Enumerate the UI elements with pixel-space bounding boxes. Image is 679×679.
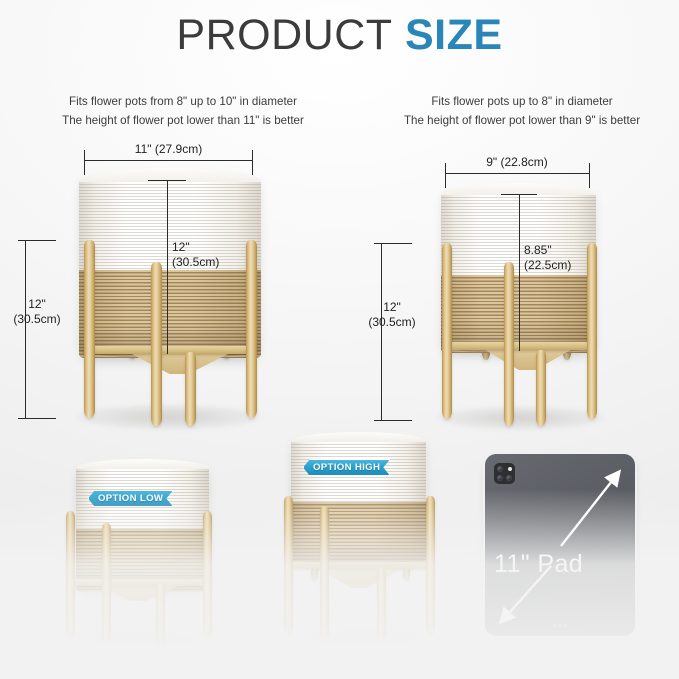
stand-leg-mid-left bbox=[320, 506, 329, 640]
product-size-infographic: PRODUCT SIZE Fits flower pots from 8" up… bbox=[0, 0, 679, 679]
stand-leg-mid-left bbox=[102, 523, 111, 643]
option-high-shadow bbox=[293, 628, 438, 648]
small-planter-shadow bbox=[435, 406, 607, 430]
stand-height-tick-bottom bbox=[18, 418, 56, 419]
stand-height-dimension-line bbox=[381, 243, 382, 421]
stand-leg-mid-right bbox=[185, 352, 196, 426]
small-stand-height-label: 12" (30.5cm) bbox=[354, 300, 430, 330]
option-high-planter: OPTION HIGH bbox=[275, 428, 465, 668]
large-planter-shadow bbox=[74, 404, 264, 430]
stand-crossbar bbox=[92, 346, 250, 354]
basket-bottom-shading bbox=[291, 540, 426, 564]
diagonal-arrow-icon bbox=[485, 454, 635, 636]
large-basket-height-cm: (30.5cm) bbox=[172, 255, 268, 270]
stand-leg-mid-right bbox=[156, 583, 165, 645]
small-diameter-label: 9" (22.8cm) bbox=[437, 155, 597, 170]
basket-height-dimension-line bbox=[167, 180, 168, 354]
stand-leg-mid-left bbox=[504, 262, 514, 426]
small-basket-height-label: 8.85" (22.5cm) bbox=[524, 243, 624, 273]
stand-leg-front-left bbox=[66, 511, 75, 637]
stand-height-tick-top bbox=[18, 240, 56, 241]
large-stand-height-cm: (30.5cm) bbox=[0, 312, 74, 327]
option-low-shadow bbox=[73, 630, 218, 650]
tablet-diagonal-label: 11" Pad bbox=[494, 550, 583, 579]
stand-diagonal-brace bbox=[317, 568, 403, 588]
stand-leg-mid-left bbox=[151, 262, 162, 426]
small-basket-height-cm: (22.5cm) bbox=[524, 258, 624, 273]
option-low-basket bbox=[76, 459, 209, 592]
stand-leg-mid-right bbox=[377, 568, 386, 640]
small-basket-height-inches: 8.85" bbox=[524, 243, 624, 258]
stand-leg-mid-right bbox=[536, 350, 546, 426]
large-stand-height-label: 12" (30.5cm) bbox=[0, 297, 74, 327]
stand-crossbar bbox=[67, 579, 213, 586]
basket-height-dimension-line bbox=[519, 194, 520, 351]
large-stand-height-inches: 12" bbox=[0, 297, 74, 312]
large-basket-height-label: 12" (30.5cm) bbox=[172, 240, 268, 270]
small-stand-height-cm: (30.5cm) bbox=[354, 315, 430, 330]
stand-leg-front-left bbox=[84, 240, 95, 418]
stand-height-tick-bottom bbox=[374, 420, 412, 421]
stand-height-tick-top bbox=[374, 243, 412, 244]
large-basket-height-inches: 12" bbox=[172, 240, 268, 255]
stand-diagonal-brace bbox=[128, 352, 232, 374]
width-dimension-line bbox=[84, 160, 253, 161]
small-planter: 9" (22.8cm) 8.85" (22.5cm) 12" (30.5cm) bbox=[349, 0, 679, 440]
stand-leg-front-right bbox=[426, 496, 435, 634]
stand-diagonal-brace bbox=[482, 348, 574, 370]
option-high-badge: OPTION HIGH bbox=[303, 459, 390, 476]
stand-crossbar bbox=[285, 562, 435, 569]
large-diameter-label: 11" (27.9cm) bbox=[84, 142, 253, 157]
stand-leg-front-left bbox=[442, 243, 452, 419]
tablet-connector-dots-icon bbox=[553, 624, 567, 627]
tablet-size-reference: 11" Pad bbox=[485, 454, 635, 636]
small-stand-height-inches: 12" bbox=[354, 300, 430, 315]
stand-height-dimension-line bbox=[25, 240, 26, 419]
stand-crossbar bbox=[449, 342, 591, 350]
stand-leg-front-left bbox=[284, 496, 293, 634]
option-low-planter: OPTION LOW bbox=[55, 455, 245, 665]
option-high-basket bbox=[291, 432, 426, 564]
width-dimension-line bbox=[445, 173, 590, 174]
large-planter: 11" (27.9cm) 12" (30.5cm) 12" (30.5cm) bbox=[0, 0, 330, 440]
option-low-badge: OPTION LOW bbox=[88, 490, 173, 507]
stand-leg-front-right bbox=[203, 511, 212, 637]
